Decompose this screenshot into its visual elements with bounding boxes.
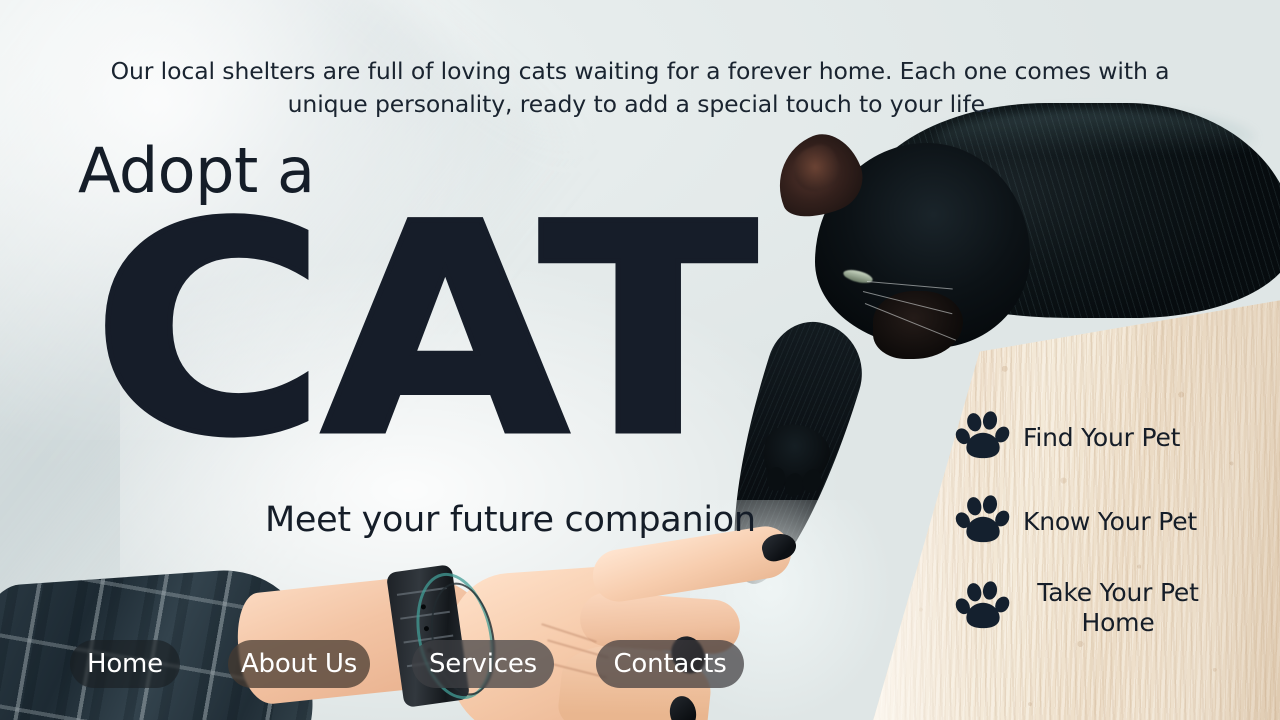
- feature-label: Take Your Pet Home: [1023, 578, 1213, 637]
- feature-label: Know Your Pet: [1023, 507, 1197, 537]
- feature-item-take-your-pet-home[interactable]: Take Your Pet Home: [955, 578, 1245, 637]
- main-navigation: Home About Us Services Contacts: [70, 640, 744, 688]
- feature-list: Find Your Pet Know Your Pet Take Your Pe…: [955, 410, 1245, 637]
- nav-button-about-us[interactable]: About Us: [228, 640, 370, 688]
- nav-button-home[interactable]: Home: [70, 640, 180, 688]
- paw-icon: [955, 494, 1011, 550]
- nav-button-contacts[interactable]: Contacts: [596, 640, 744, 688]
- nav-button-services[interactable]: Services: [412, 640, 554, 688]
- feature-item-find-your-pet[interactable]: Find Your Pet: [955, 410, 1245, 466]
- intro-paragraph: Our local shelters are full of loving ca…: [90, 55, 1190, 122]
- feature-item-know-your-pet[interactable]: Know Your Pet: [955, 494, 1245, 550]
- headline-cat: CAT: [92, 204, 753, 459]
- subtitle: Meet your future companion: [265, 503, 756, 538]
- paw-icon: [955, 580, 1011, 636]
- headline-adopt-a: Adopt a: [78, 140, 314, 202]
- adopt-a-cat-poster: CAT Adopt a Our local shelters are full …: [0, 0, 1280, 720]
- feature-label: Find Your Pet: [1023, 423, 1180, 453]
- paw-icon: [955, 410, 1011, 466]
